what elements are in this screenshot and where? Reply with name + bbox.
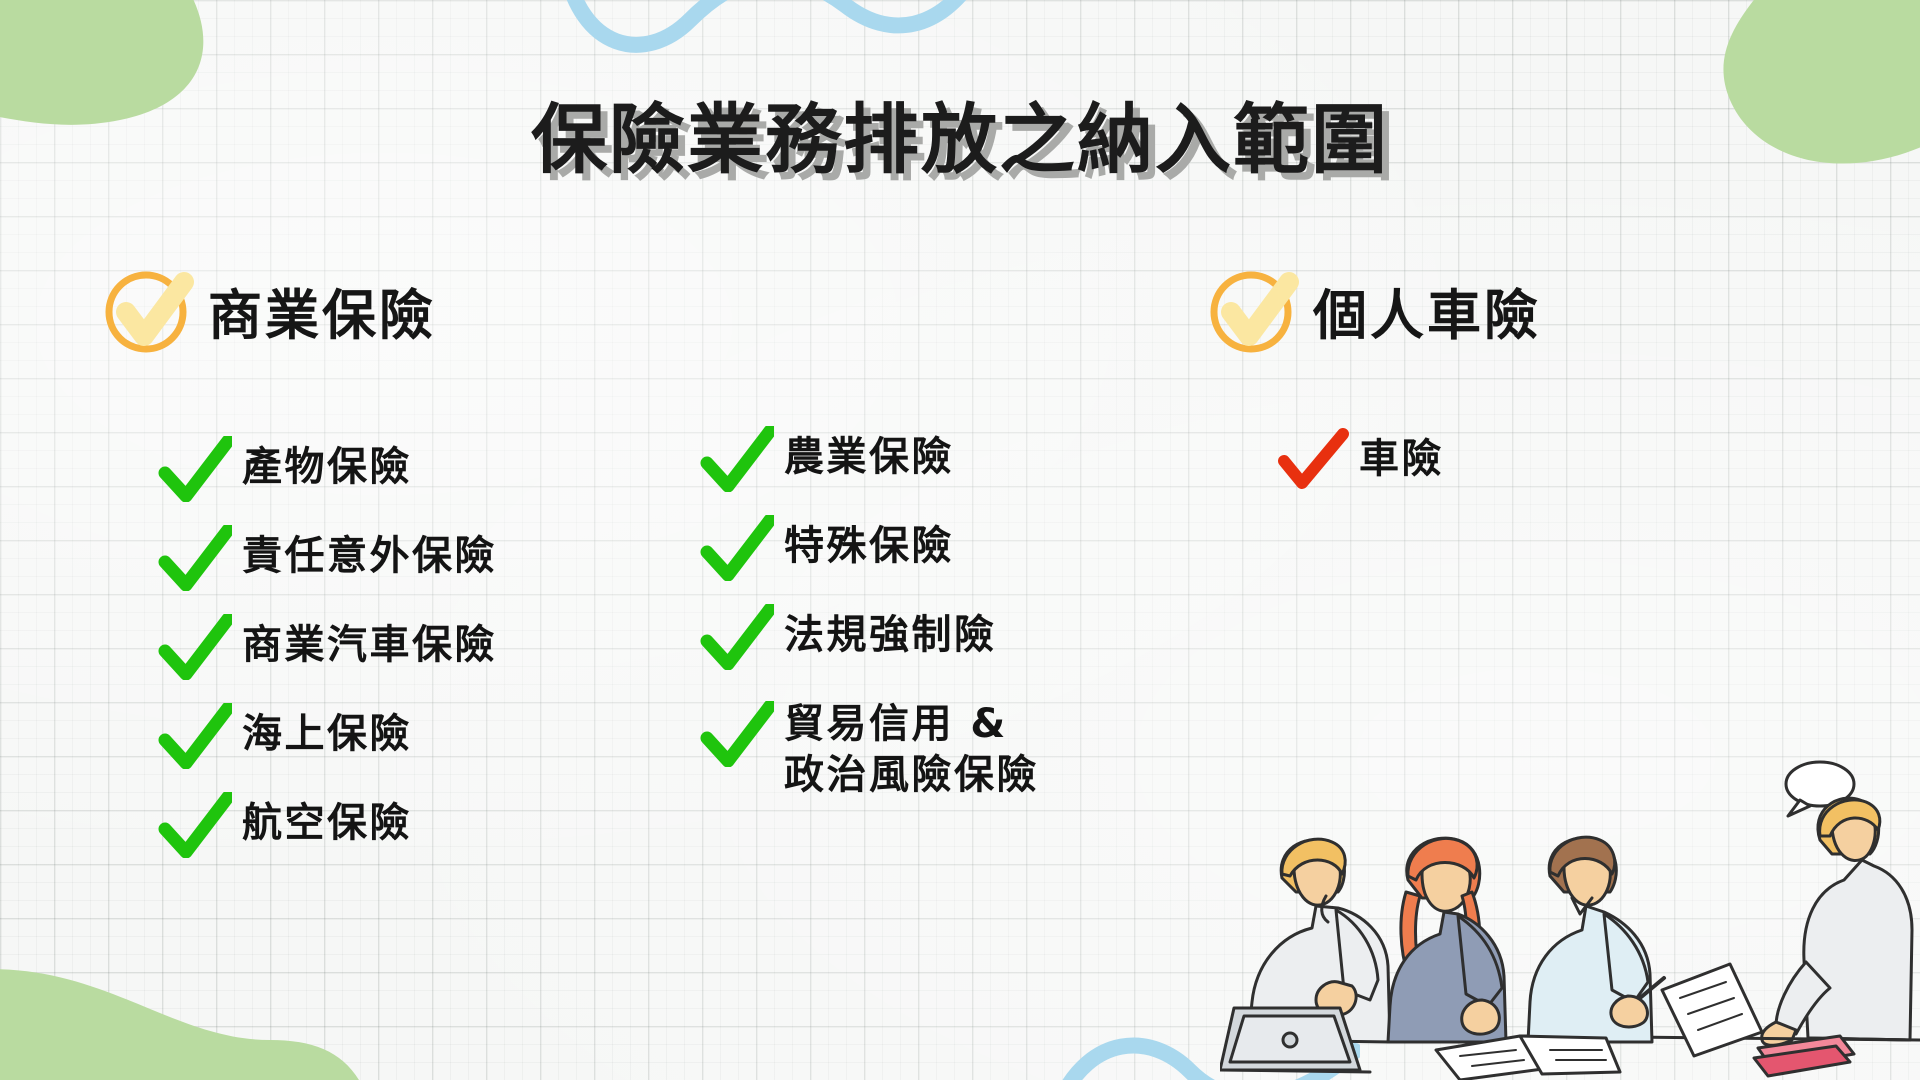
list-item-label: 海上保險 xyxy=(242,703,412,760)
list-item[interactable]: 車險 xyxy=(1275,428,1444,494)
people-meeting-illustration xyxy=(1220,750,1920,1080)
list-item[interactable]: 法規強制險 xyxy=(700,604,1039,670)
list-item-label: 航空保險 xyxy=(242,792,412,849)
slide-canvas: 保險業務排放之納入範圍 商業保險 個人車險 產物保險 xyxy=(0,0,1920,1080)
list-item[interactable]: 商業汽車保險 xyxy=(158,614,497,680)
check-icon xyxy=(158,525,232,591)
blue-wave-line-top-icon xyxy=(560,0,980,70)
check-icon xyxy=(700,515,774,581)
list-commercial-column-2: 農業保險 特殊保險 法規強制險 貿易信用 & 政治風險保險 xyxy=(700,426,1039,824)
check-icon xyxy=(700,604,774,670)
section-title-commercial: 商業保險 xyxy=(208,271,436,350)
check-icon-red xyxy=(1275,428,1349,494)
list-item[interactable]: 海上保險 xyxy=(158,703,497,769)
check-icon xyxy=(158,614,232,680)
circled-check-icon xyxy=(1205,262,1301,358)
list-item-label: 貿易信用 & 政治風險保險 xyxy=(784,693,1039,801)
list-item-label: 法規強制險 xyxy=(784,604,997,661)
list-item[interactable]: 責任意外保險 xyxy=(158,525,497,591)
list-commercial-column-1: 產物保險 責任意外保險 商業汽車保險 海上保險 航空保險 xyxy=(158,436,497,881)
section-header-personal: 個人車險 xyxy=(1205,262,1541,358)
check-icon xyxy=(700,701,774,767)
list-item-label: 特殊保險 xyxy=(784,515,954,572)
list-item-label: 車險 xyxy=(1359,428,1444,485)
list-item[interactable]: 特殊保險 xyxy=(700,515,1039,581)
section-header-commercial: 商業保險 xyxy=(100,262,436,358)
list-item-label: 產物保險 xyxy=(242,436,412,493)
page-title: 保險業務排放之納入範圍 xyxy=(0,78,1920,188)
list-item[interactable]: 貿易信用 & 政治風險保險 xyxy=(700,693,1039,801)
check-icon xyxy=(158,703,232,769)
section-title-personal: 個人車險 xyxy=(1313,271,1541,350)
list-item[interactable]: 農業保險 xyxy=(700,426,1039,492)
list-personal-column-1: 車險 xyxy=(1275,428,1444,494)
check-icon xyxy=(700,426,774,492)
list-item-label: 責任意外保險 xyxy=(242,525,497,582)
circled-check-icon xyxy=(100,262,196,358)
list-item[interactable]: 產物保險 xyxy=(158,436,497,502)
check-icon xyxy=(158,792,232,858)
check-icon xyxy=(158,436,232,502)
list-item[interactable]: 航空保險 xyxy=(158,792,497,858)
list-item-label: 農業保險 xyxy=(784,426,954,483)
list-item-label: 商業汽車保險 xyxy=(242,614,497,671)
